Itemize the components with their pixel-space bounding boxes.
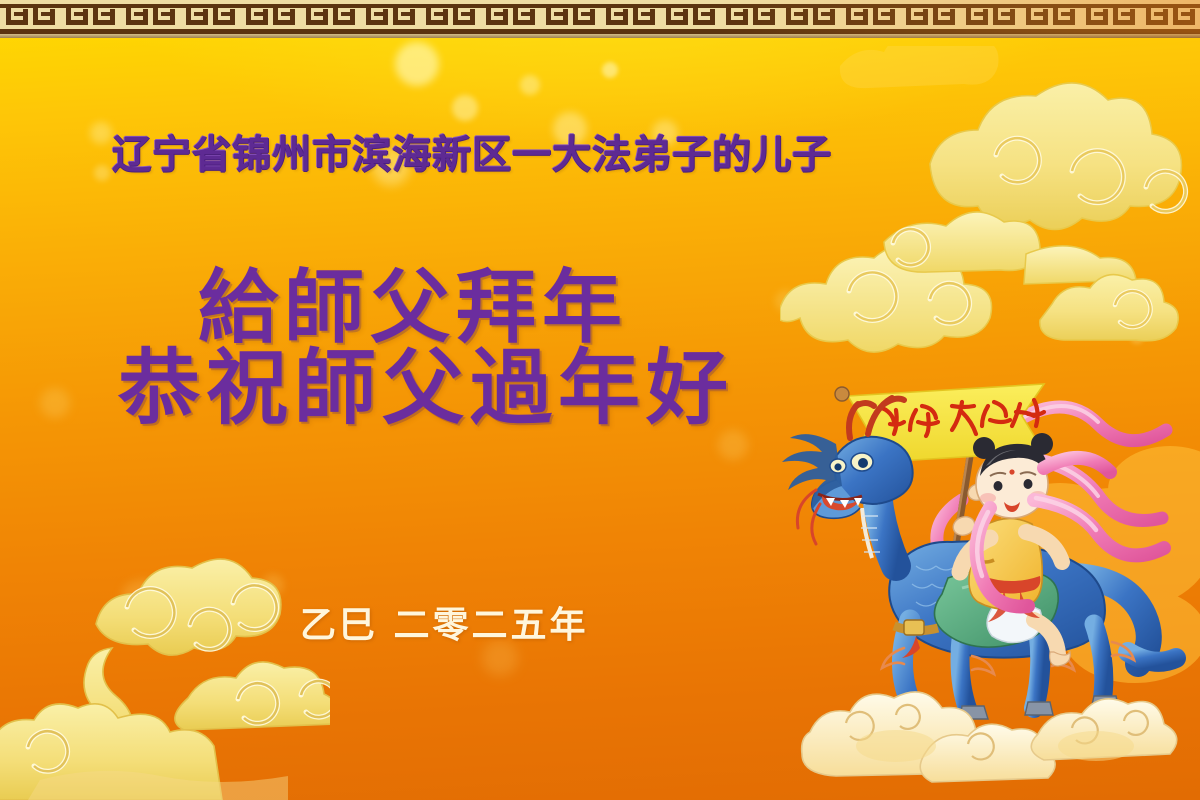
bokeh-dot [233,612,247,626]
bokeh-dot [602,62,618,78]
bokeh-dot [395,42,439,86]
ruyi-cloud-bottom-left [0,540,330,800]
bokeh-dot [452,95,478,121]
bokeh-dot [90,122,112,144]
bokeh-dot [262,574,284,596]
page-headline: 辽宁省锦州市滨海新区一大法弟子的儿子 [112,136,832,175]
greeting-line-1: 給師父拜年 [198,268,628,348]
greek-key-meander-border [0,0,1200,38]
bokeh-dot [94,165,110,181]
cloud-puffs-foreground [802,692,1177,782]
bokeh-dot [122,580,166,610]
border-bottom-shade [0,32,1200,38]
bokeh-dot [775,290,797,312]
bokeh-dot [1130,330,1144,344]
greeting-card: 辽宁省锦州市滨海新区一大法弟子的儿子 給師父拜年 恭祝師父過年好 乙巳 二零二五… [0,0,1200,800]
lunar-date-label: 乙巳 二零二五年 [300,608,589,644]
bokeh-dot [40,388,70,418]
greeting-line-2: 恭祝師父過年好 [118,348,734,430]
bokeh-dot [520,75,540,95]
illustration-child-riding-dragon [776,380,1200,800]
ruyi-cloud-top-right [780,46,1200,376]
